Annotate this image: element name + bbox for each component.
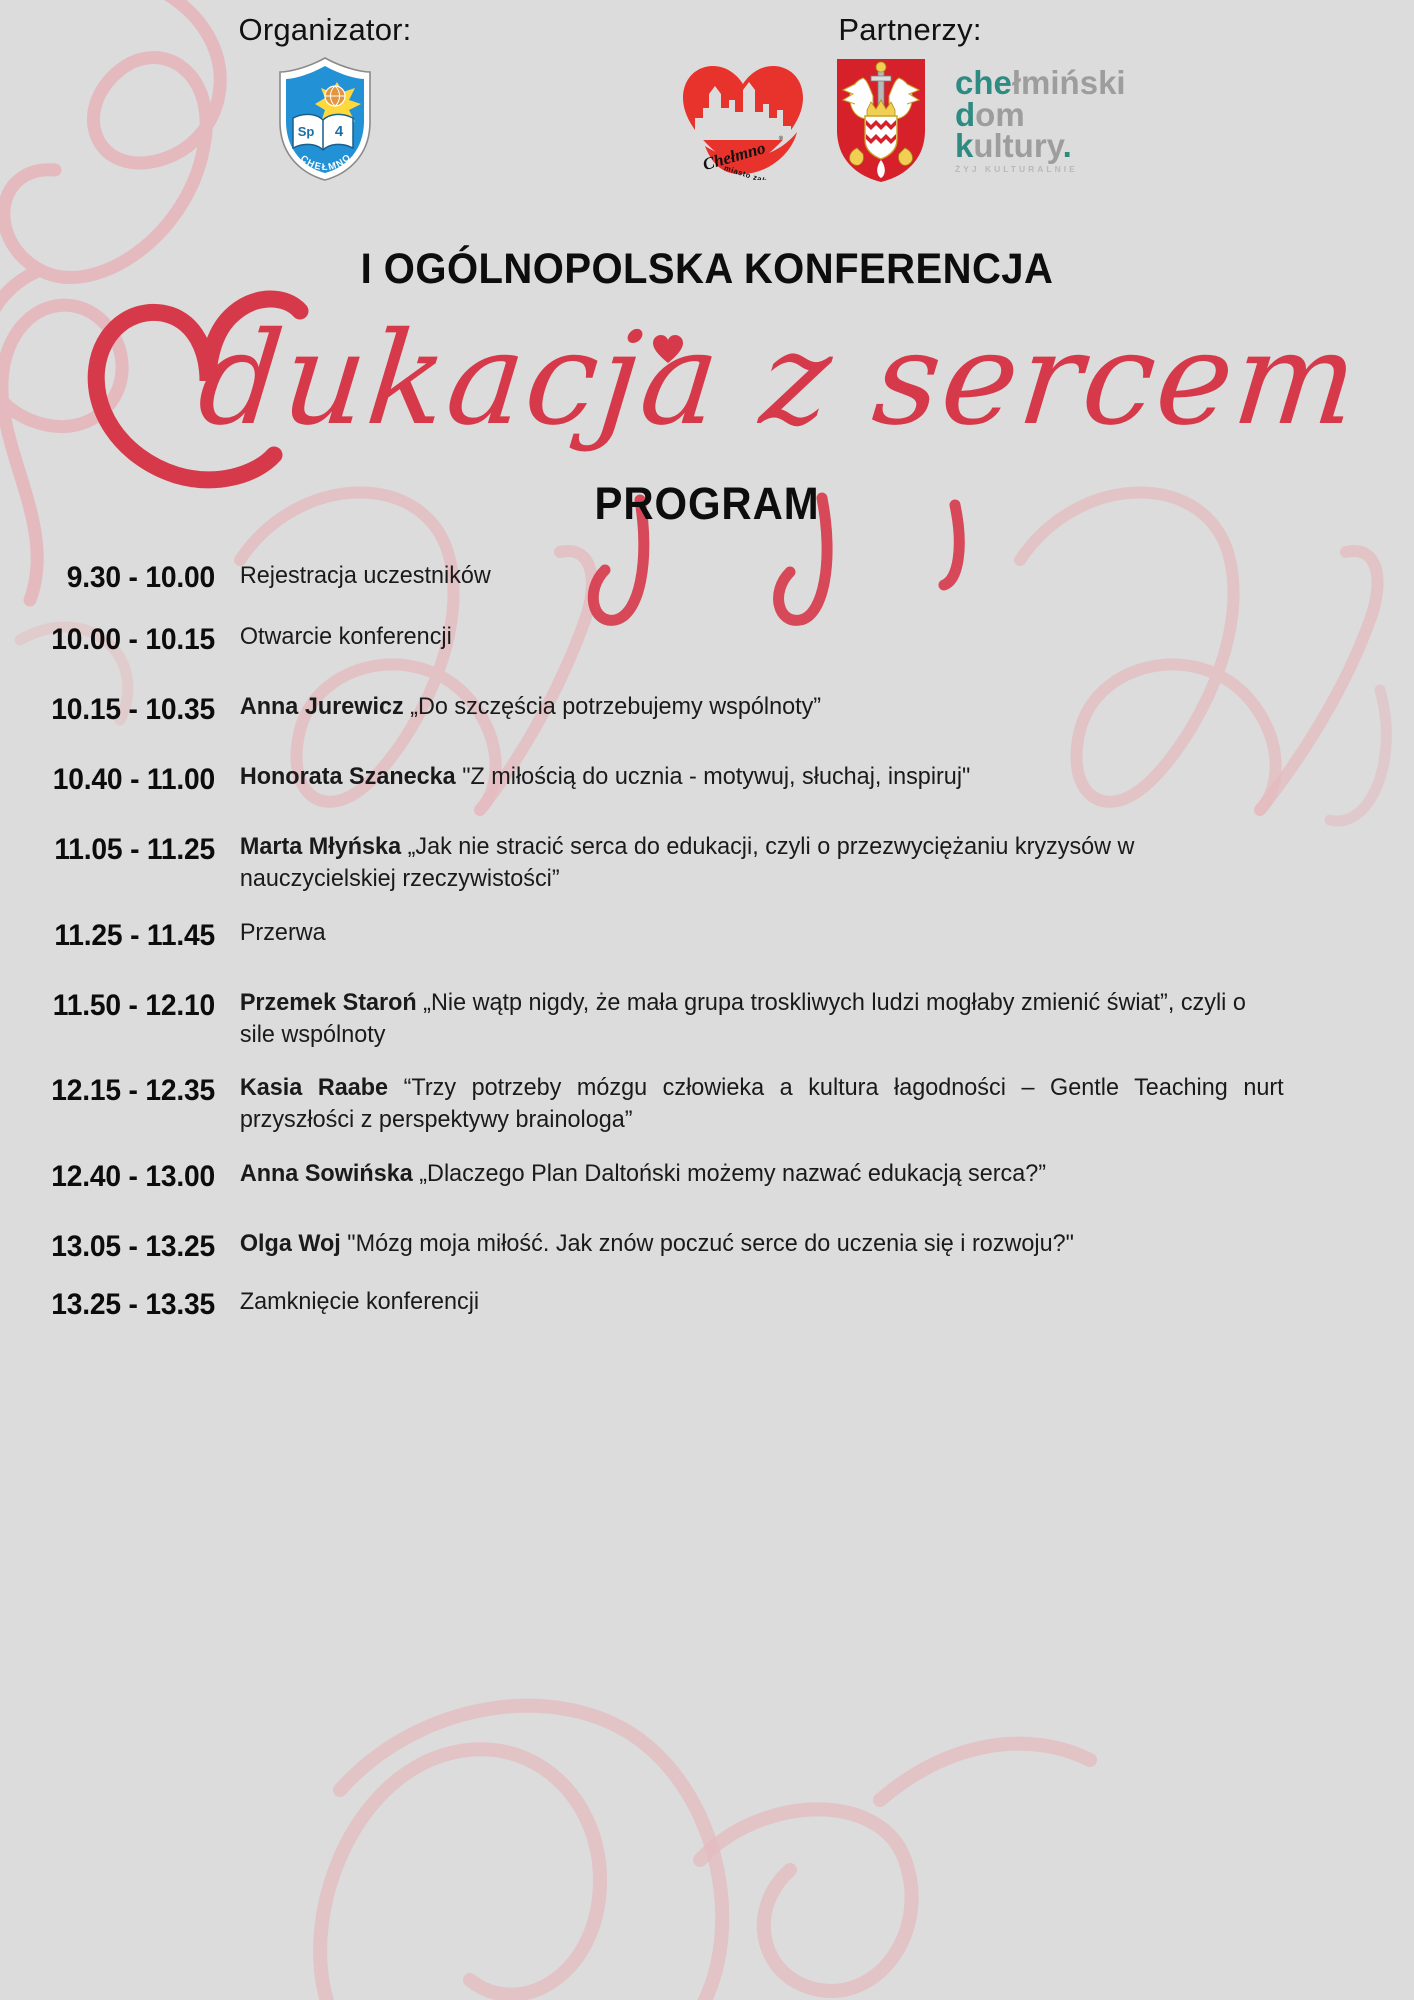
partner-logo-row: Chełmno ® miasto zakochanych [630,56,1190,184]
schedule-list: 9.30 - 10.00 Rejestracja uczestników 10.… [0,560,1414,1348]
schedule-row: 12.15 - 12.35 Kasia Raabe “Trzy potrzeby… [0,1072,1414,1136]
script-title: dukacja z sercem [192,305,1308,454]
cdk-tagline: ŻYJ KULTURALNIE [955,165,1141,173]
schedule-row: 13.05 - 13.25 Olga Woj "Mózg moja miłość… [0,1228,1414,1264]
program-heading: PROGRAM [49,478,1364,530]
cdk-line1-rest: łmiński [1012,64,1126,101]
schedule-row: 10.40 - 11.00 Honorata Szanecka "Z miłoś… [0,761,1414,797]
row-time: 12.15 - 12.35 [13,1072,215,1108]
row-description: Olga Woj "Mózg moja miłość. Jak znów poc… [215,1228,1360,1260]
row-time: 11.50 - 12.10 [13,987,215,1023]
cdk-line3-accent: k [955,127,973,164]
script-title-wrap: dukacja z sercem [0,285,1414,510]
row-speaker: Honorata Szanecka [240,763,456,790]
row-description: Otwarcie konferencji [215,621,1360,653]
row-text: Rejestracja uczestników [240,562,491,589]
row-time: 9.30 - 10.00 [13,560,215,595]
schedule-row: 13.25 - 13.35 Zamknięcie konferencji [0,1286,1414,1322]
row-time: 11.25 - 11.45 [13,917,215,953]
cdk-line3-dot: . [1063,127,1072,164]
schedule-row: 10.15 - 10.35 Anna Jurewicz „Do szczęści… [0,691,1414,727]
chelmno-coat-of-arms [833,56,929,184]
row-speaker: Kasia Raabe [240,1074,388,1101]
row-text: Otwarcie konferencji [240,623,452,650]
partners-label: Partnerzy: [630,12,1190,48]
organizer-block: Organizator: Sp [160,12,490,182]
row-speaker: Marta Młyńska [240,833,401,860]
row-time: 10.00 - 10.15 [13,621,215,657]
row-text: "Mózg moja miłość. Jak znów poczuć serce… [341,1230,1074,1257]
row-speaker: Olga Woj [240,1230,341,1257]
row-text: Przerwa [240,919,326,946]
row-description: Zamknięcie konferencji [215,1286,1360,1318]
partners-block: Partnerzy: Chełmno ® miasto za [630,12,1190,184]
chelmno-heart-logo: Chełmno ® miasto zakochanych [679,60,807,180]
row-time: 13.05 - 13.25 [13,1228,215,1264]
organizer-label: Organizator: [160,12,490,48]
row-description: Przemek Staroń „Nie wątp nigdy, że mała … [215,987,1360,1051]
schedule-row: 9.30 - 10.00 Rejestracja uczestników [0,560,1414,595]
chelminski-dom-kultury-logo: chełmiński dom kultury. ŻYJ KULTURALNIE [955,67,1141,173]
svg-text:4: 4 [335,123,344,140]
row-text: „Do szczęścia potrzebujemy wspólnoty” [404,693,821,720]
row-time: 13.25 - 13.35 [13,1286,215,1322]
schedule-row: 11.25 - 11.45 Przerwa [0,917,1414,953]
school-shield-logo: Sp 4 CHEŁMNO [277,56,373,182]
row-text: „Dlaczego Plan Daltoński możemy nazwać e… [413,1160,1046,1187]
row-speaker: Przemek Staroń [240,989,417,1016]
row-text: “Trzy potrzeby mózgu człowieka a kultura… [240,1074,1284,1133]
schedule-row: 10.00 - 10.15 Otwarcie konferencji [0,621,1414,657]
row-description: Honorata Szanecka "Z miłością do ucznia … [215,761,1360,793]
row-text: "Z miłością do ucznia - motywuj, słuchaj… [456,763,971,790]
row-description: Kasia Raabe “Trzy potrzeby mózgu człowie… [215,1072,1360,1136]
row-description: Przerwa [215,917,1360,949]
row-time: 10.15 - 10.35 [13,691,215,727]
row-description: Marta Młyńska „Jak nie stracić serca do … [215,831,1360,895]
schedule-row: 12.40 - 13.00 Anna Sowińska „Dlaczego Pl… [0,1158,1414,1194]
row-description: Anna Sowińska „Dlaczego Plan Daltoński m… [215,1158,1360,1190]
svg-text:Sp: Sp [298,124,315,139]
row-speaker: Anna Sowińska [240,1160,413,1187]
header-logos: Organizator: Sp [0,0,1414,210]
row-description: Anna Jurewicz „Do szczęścia potrzebujemy… [215,691,1360,723]
small-heart-icon [651,333,685,367]
schedule-row: 11.05 - 11.25 Marta Młyńska „Jak nie str… [0,831,1414,895]
row-text: Zamknięcie konferencji [240,1288,479,1315]
schedule-row: 11.50 - 12.10 Przemek Staroń „Nie wątp n… [0,987,1414,1051]
row-speaker: Anna Jurewicz [240,693,404,720]
row-time: 12.40 - 13.00 [13,1158,215,1194]
organizer-logo-row: Sp 4 CHEŁMNO [160,56,490,182]
row-time: 10.40 - 11.00 [13,761,215,797]
conference-program-poster: Organizator: Sp [0,0,1414,2000]
row-description: Rejestracja uczestników [215,560,1360,592]
cdk-line3-rest: ultury [973,127,1062,164]
row-time: 11.05 - 11.25 [13,831,215,867]
